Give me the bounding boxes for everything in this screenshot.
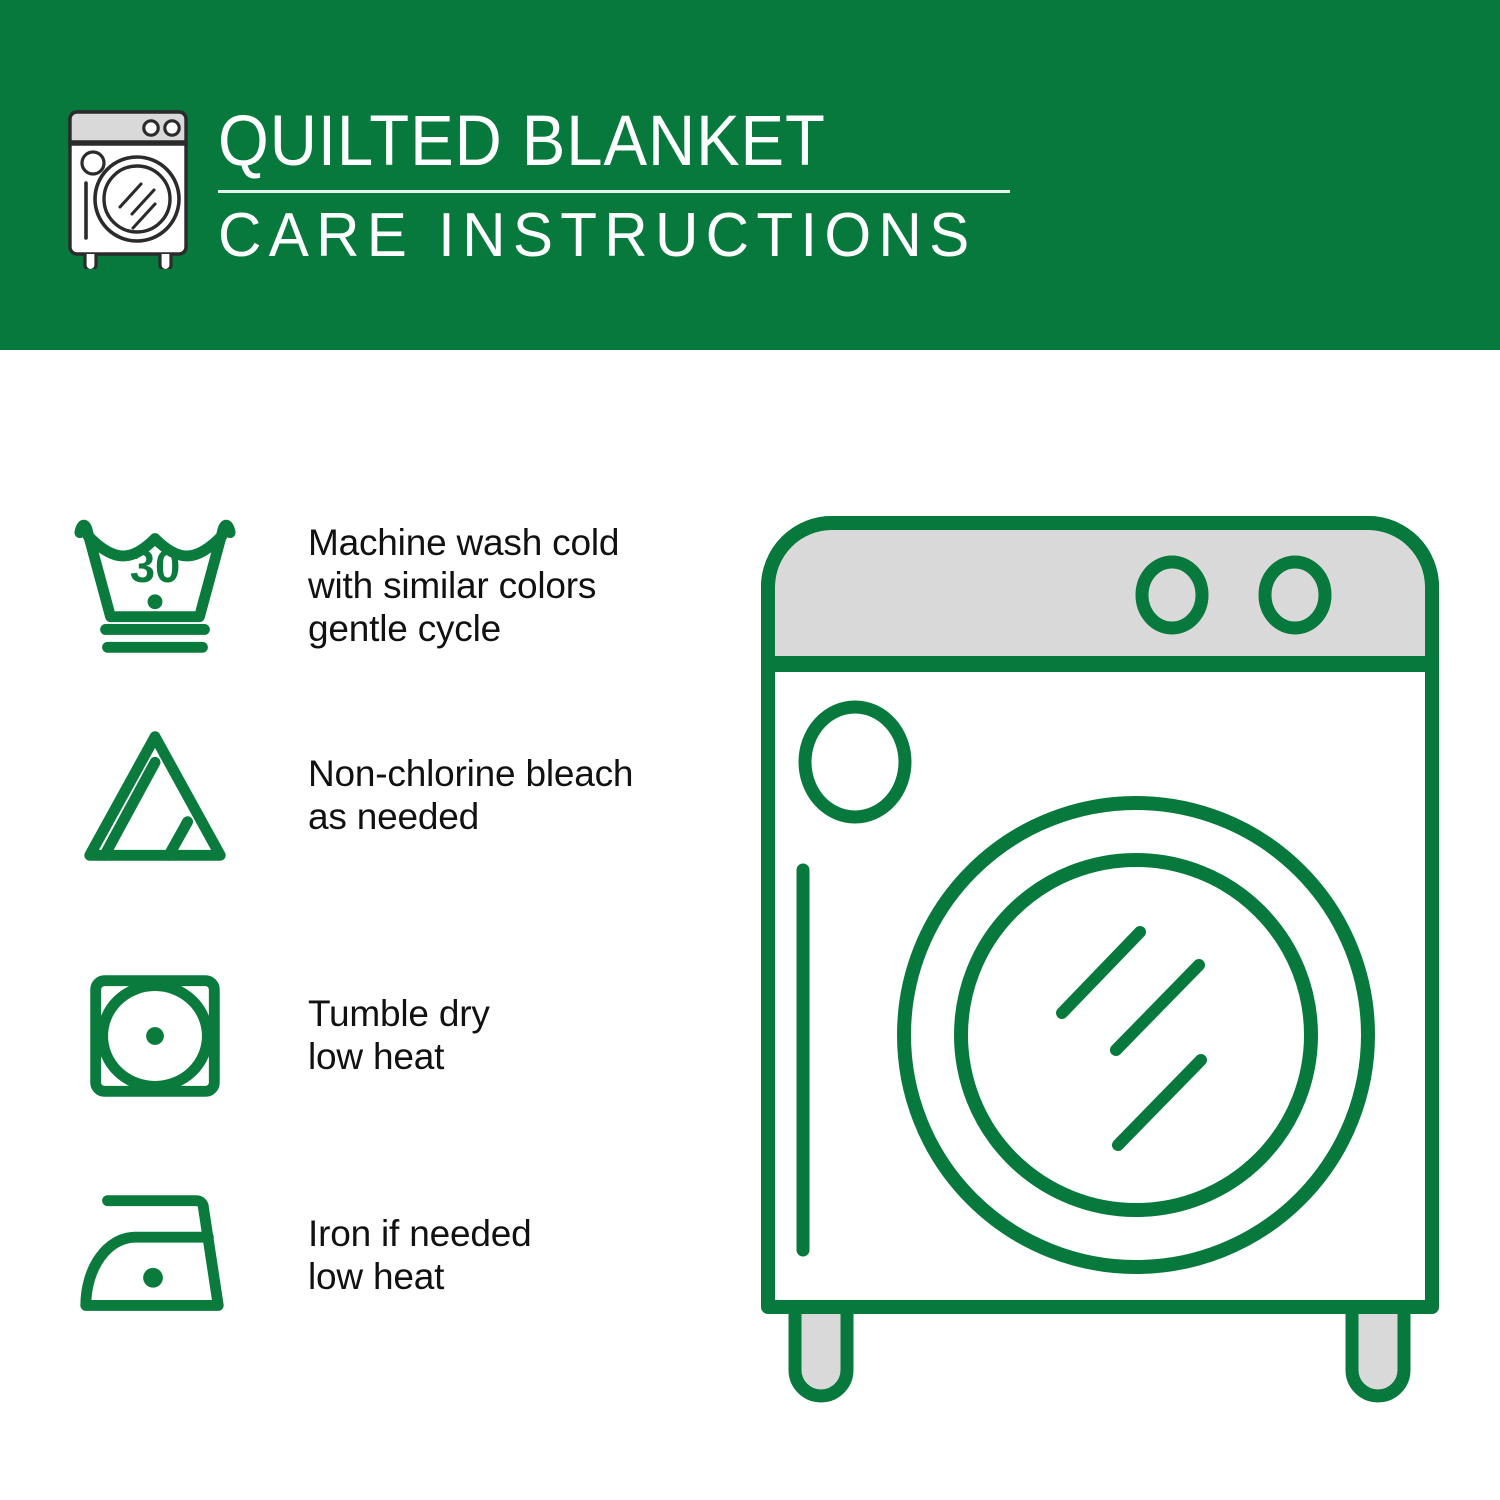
header-banner: QUILTED BLANKET CARE INSTRUCTIONS [0, 0, 1500, 350]
care-text-line: Iron if needed [308, 1212, 531, 1255]
care-text-line: gentle cycle [308, 607, 619, 650]
iron-low-heat-icon [70, 1180, 240, 1330]
care-text-line: Tumble dry [308, 992, 490, 1035]
care-instructions-infographic: QUILTED BLANKET CARE INSTRUCTIONS 30 [0, 0, 1500, 1500]
care-instruction-text: Machine wash cold with similar colors ge… [240, 521, 619, 650]
care-text-line: low heat [308, 1035, 490, 1078]
care-instruction-item: 30 Machine wash cold with similar colors… [70, 510, 730, 660]
wash-temperature-label: 30 [130, 541, 181, 592]
washing-machine-icon [58, 104, 198, 269]
care-instruction-item: Tumble dry low heat [70, 960, 730, 1110]
care-instruction-text: Tumble dry low heat [240, 992, 490, 1078]
care-text-line: with similar colors [308, 564, 619, 607]
care-instruction-text: Non-chlorine bleach as needed [240, 752, 633, 838]
non-chlorine-bleach-triangle-icon [70, 720, 240, 870]
care-text-line: low heat [308, 1255, 531, 1298]
care-instruction-list: 30 Machine wash cold with similar colors… [0, 350, 740, 1500]
care-instruction-item: Iron if needed low heat [70, 1180, 730, 1330]
front-load-washing-machine-illustration [740, 495, 1460, 1425]
care-instruction-text: Iron if needed low heat [240, 1212, 531, 1298]
page-subtitle: CARE INSTRUCTIONS [218, 200, 994, 272]
tumble-dry-low-heat-icon [70, 960, 240, 1110]
care-text-line: Non-chlorine bleach [308, 752, 633, 795]
care-text-line: as needed [308, 795, 633, 838]
care-instruction-item: Non-chlorine bleach as needed [70, 720, 730, 870]
title-divider [218, 190, 1010, 193]
page-title: QUILTED BLANKET [218, 103, 954, 181]
header-title-block: QUILTED BLANKET CARE INSTRUCTIONS [218, 103, 1018, 272]
care-text-line: Machine wash cold [308, 521, 619, 564]
wash-tub-30-gentle-icon: 30 [70, 510, 240, 660]
